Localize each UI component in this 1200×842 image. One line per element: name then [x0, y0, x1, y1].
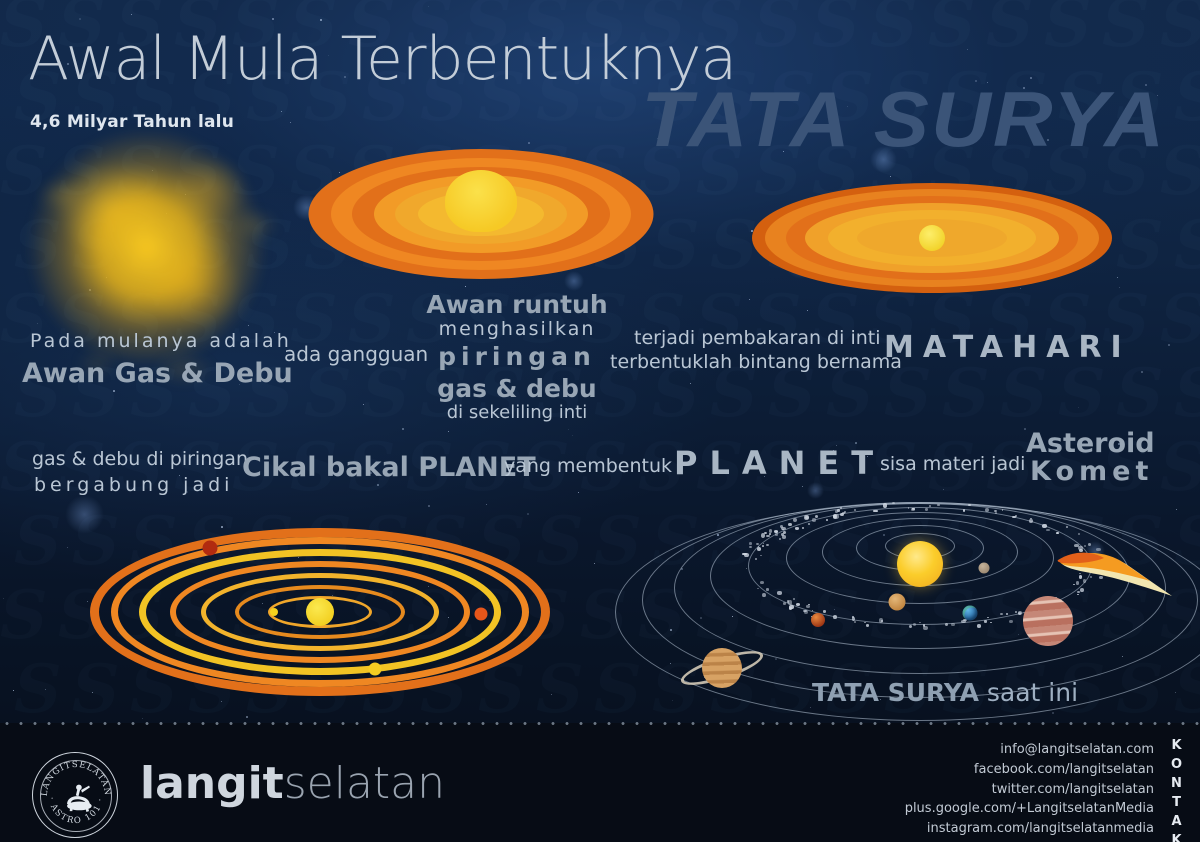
contact-list: info@langitselatan.com facebook.com/lang… [905, 740, 1154, 839]
solar-system-caption-bold: TATA SURYA [812, 678, 979, 707]
planet-saturn [702, 648, 742, 688]
planet-earth [963, 606, 978, 621]
caption-collapse-line5: di sekeliling inti [424, 402, 610, 423]
planetesimal-disk-illustration [90, 528, 550, 696]
caption-cloud-line2: Awan Gas & Debu [22, 358, 274, 389]
infographic-poster: SSSSSSSSSSSSSSSSSSSSSSSSSSSSSSSSSSSSSSSS… [0, 0, 1200, 842]
caption-collapse-line1: Awan runtuh [424, 290, 610, 319]
planetesimal-red [202, 541, 217, 556]
solar-system-caption: TATA SURYA saat ini [812, 678, 1078, 707]
contact-instagram[interactable]: instagram.com/langitselatanmedia [905, 819, 1154, 839]
caption-collapse-line3: piringan [424, 342, 610, 371]
planet-mars [811, 613, 825, 627]
svg-text:· ASTRO 101 ·: · ASTRO 101 · [46, 796, 106, 826]
caption-forming: yang membentuk [504, 455, 672, 477]
seal-bottom-text: · ASTRO 101 · [46, 796, 106, 826]
planetesimal-small [270, 608, 278, 616]
caption-accrete-line1: gas & debu di piringan [32, 448, 248, 470]
contact-email[interactable]: info@langitselatan.com [905, 740, 1154, 760]
label-komet: Komet [1030, 456, 1153, 487]
big-title-tata-surya: TATA SURYA [641, 74, 1166, 165]
planet-sun [897, 541, 943, 587]
planet-venus [889, 594, 906, 611]
brand-wordmark: langitselatan [140, 758, 445, 809]
footer-divider [0, 722, 1200, 725]
caption-fusion-line1: terjadi pembakaran di inti [634, 327, 881, 349]
label-matahari: MATAHARI [884, 330, 1131, 365]
protosun [306, 598, 334, 626]
caption-leftover: sisa materi jadi [880, 453, 1025, 475]
planetesimal-yellow [369, 663, 382, 676]
label-planet: PLANET [674, 444, 885, 482]
label-cikal-bakal-planet: Cikal bakal PLANET [242, 452, 536, 483]
caption-cloud-line1: Pada mulanya adalah [30, 330, 270, 352]
langitselatan-seal-logo: LANGITSELATAN · ASTRO 101 · [32, 752, 118, 838]
brand-word-langit: langit [140, 758, 284, 809]
page-title: Awal Mula Terbentuknya [28, 24, 736, 94]
protostar-disk-illustration [752, 182, 1112, 294]
contact-twitter[interactable]: twitter.com/langitselatan [905, 780, 1154, 800]
caption-accrete-line2: bergabung jadi [34, 474, 233, 496]
caption-disturbance: ada gangguan [284, 342, 428, 366]
seal-top-text: LANGITSELATAN [40, 760, 112, 797]
caption-fusion-line2: terbentuklah bintang bernama [610, 351, 902, 373]
contact-label: KONTAK [1169, 738, 1184, 842]
caption-collapse-line4: gas & debu [424, 374, 610, 403]
label-asteroid: Asteroid [1026, 428, 1155, 459]
planet-mercury [979, 563, 990, 574]
caption-collapse-line2: menghasilkan [424, 318, 610, 340]
collapsing-disk-illustration [308, 148, 653, 280]
svg-text:LANGITSELATAN: LANGITSELATAN [40, 760, 112, 797]
contact-facebook[interactable]: facebook.com/langitselatan [905, 760, 1154, 780]
planetesimal-orange [475, 607, 488, 620]
solar-system-caption-light: saat ini [987, 678, 1078, 707]
comet-icon [1052, 544, 1192, 604]
contact-googleplus[interactable]: plus.google.com/+LangitselatanMedia [905, 799, 1154, 819]
brand-word-selatan: selatan [284, 758, 445, 809]
